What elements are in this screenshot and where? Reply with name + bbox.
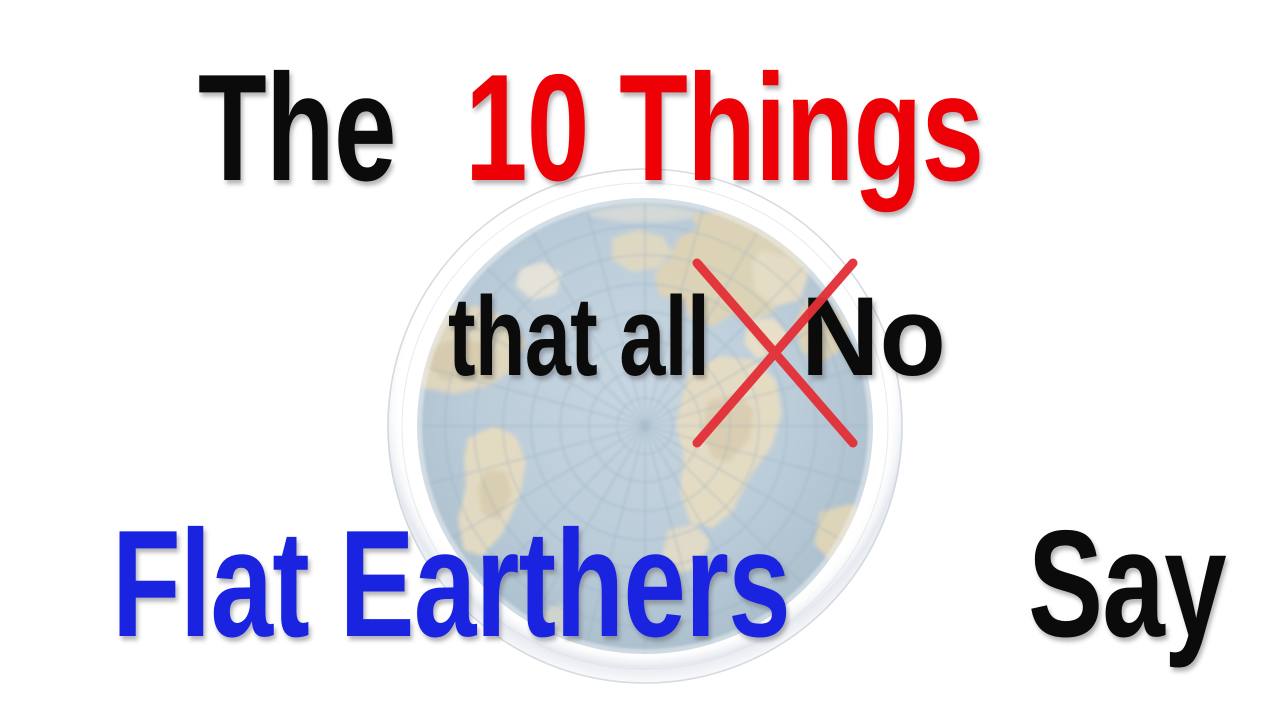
headline-flat-earthers: Flat Earthers [112,508,790,660]
headline-ten-things: 10 Things [465,52,983,204]
video-thumbnail: The 10 Things that all No Flat Earthers … [0,0,1280,720]
headline-the: The [198,52,396,204]
headline-line-middle: that all No [448,281,950,393]
headline-line-top: The 10 Things [198,52,1166,204]
headline-that-all: that all [448,281,709,393]
headline-say: Say [1028,508,1226,660]
headline-line-bottom: Flat Earthers Say [112,508,1280,660]
headline-no: No [801,281,946,393]
